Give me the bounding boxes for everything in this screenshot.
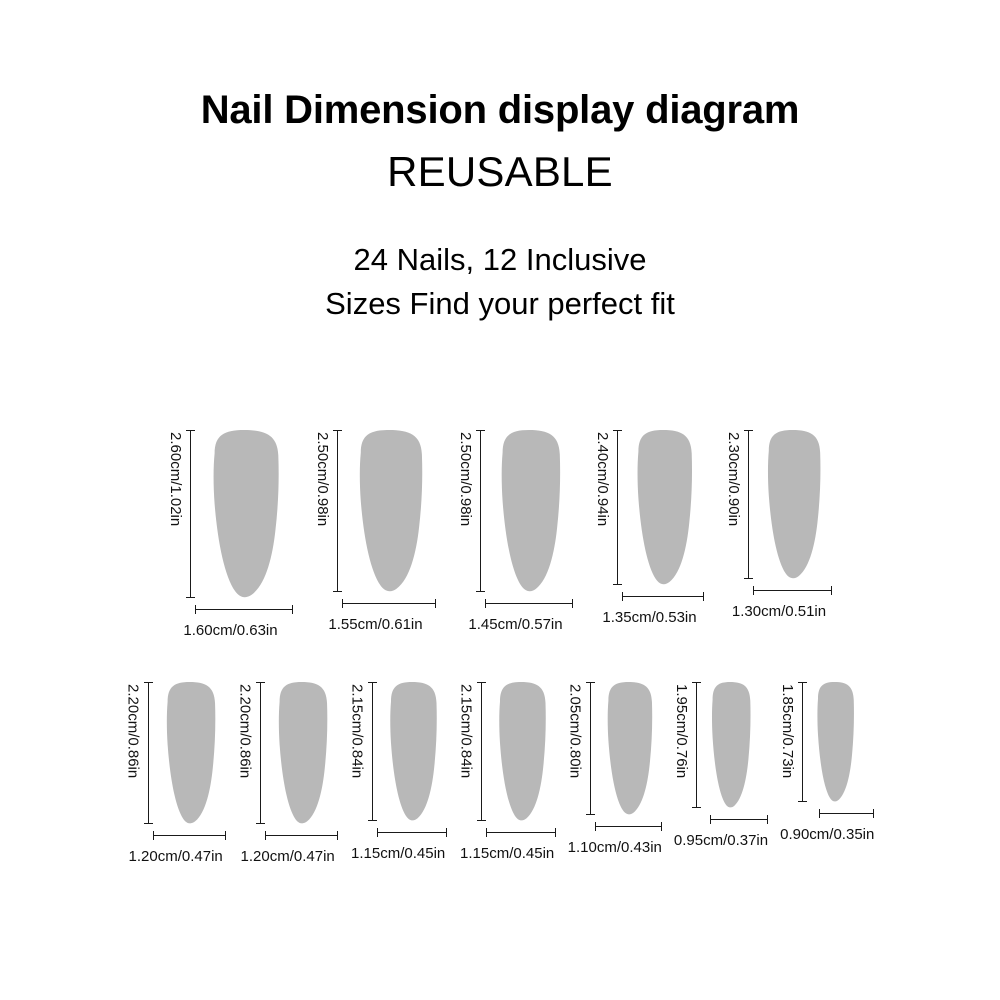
nail-shape-icon	[265, 682, 338, 824]
nail-width-label: 1.35cm/0.53in	[595, 610, 704, 625]
nail-width-label: 0.90cm/0.35in	[780, 827, 874, 842]
nail-width-label: 1.60cm/0.63in	[168, 623, 293, 638]
nail-shape-icon	[342, 430, 436, 592]
height-dimension-line	[144, 682, 153, 824]
height-dimension-line	[477, 682, 486, 821]
nail-shape-icon	[486, 682, 556, 821]
nail-height-label: 2.20cm/0.86in	[238, 682, 256, 824]
nail-size-item[interactable]: 2.20cm/0.86in1.20cm/0.47in	[238, 682, 338, 864]
height-dimension-line	[613, 430, 622, 585]
nail-shape-icon	[807, 682, 862, 802]
width-dimension-line	[342, 599, 436, 608]
height-dimension-line	[586, 682, 595, 815]
nail-size-item[interactable]: 2.50cm/0.98in1.45cm/0.57in	[458, 430, 573, 632]
height-dimension-line	[692, 682, 701, 808]
height-dimension-line	[744, 430, 753, 579]
nail-width-label: 1.45cm/0.57in	[458, 617, 573, 632]
nail-width-label: 1.15cm/0.45in	[350, 846, 447, 861]
nail-width-label: 1.20cm/0.47in	[238, 849, 338, 864]
nail-width-label: 0.95cm/0.37in	[674, 833, 768, 848]
width-dimension-line	[153, 831, 226, 840]
nail-shape-icon	[753, 430, 832, 579]
nail-shape-icon	[153, 682, 226, 824]
nail-height-label: 2.50cm/0.98in	[458, 430, 476, 592]
nail-size-item[interactable]: 2.40cm/0.94in1.35cm/0.53in	[595, 430, 704, 625]
width-dimension-line	[595, 822, 662, 831]
nail-shape-icon	[595, 682, 662, 815]
nail-row: 2.20cm/0.86in1.20cm/0.47in2.20cm/0.86in1…	[0, 682, 1000, 864]
height-dimension-line	[798, 682, 807, 802]
width-dimension-line	[377, 828, 447, 837]
nail-height-label: 2.15cm/0.84in	[350, 682, 368, 821]
width-dimension-line	[710, 815, 768, 824]
description-line-2: Sizes Find your perfect fit	[0, 282, 1000, 326]
nail-shape-icon	[701, 682, 759, 808]
width-dimension-line	[195, 605, 293, 614]
description-line-1: 24 Nails, 12 Inclusive	[0, 238, 1000, 282]
nail-height-label: 1.95cm/0.76in	[674, 682, 692, 808]
diagram-header: Nail Dimension display diagram REUSABLE …	[0, 0, 1000, 326]
nail-shape-icon	[485, 430, 573, 592]
nail-size-item[interactable]: 2.20cm/0.86in1.20cm/0.47in	[126, 682, 226, 864]
height-dimension-line	[256, 682, 265, 824]
nail-shape-icon	[377, 682, 447, 821]
width-dimension-line	[485, 599, 573, 608]
description-block: 24 Nails, 12 Inclusive Sizes Find your p…	[0, 238, 1000, 326]
nail-height-label: 2.60cm/1.02in	[168, 430, 186, 598]
height-dimension-line	[333, 430, 342, 592]
nail-size-item[interactable]: 2.05cm/0.80in1.10cm/0.43in	[568, 682, 662, 855]
nail-size-item[interactable]: 2.15cm/0.84in1.15cm/0.45in	[459, 682, 556, 861]
width-dimension-line	[265, 831, 338, 840]
nail-size-item[interactable]: 2.60cm/1.02in1.60cm/0.63in	[168, 430, 293, 638]
nail-row: 2.60cm/1.02in1.60cm/0.63in2.50cm/0.98in1…	[0, 430, 1000, 638]
nail-height-label: 2.50cm/0.98in	[315, 430, 333, 592]
width-dimension-line	[486, 828, 556, 837]
nail-width-label: 1.55cm/0.61in	[315, 617, 436, 632]
height-dimension-line	[368, 682, 377, 821]
nail-size-item[interactable]: 2.50cm/0.98in1.55cm/0.61in	[315, 430, 436, 632]
nail-shape-icon	[195, 430, 293, 598]
nail-height-label: 2.20cm/0.86in	[126, 682, 144, 824]
nail-size-item[interactable]: 2.15cm/0.84in1.15cm/0.45in	[350, 682, 447, 861]
nail-width-label: 1.30cm/0.51in	[726, 604, 832, 619]
nail-shape-icon	[622, 430, 704, 585]
height-dimension-line	[186, 430, 195, 598]
nail-height-label: 2.05cm/0.80in	[568, 682, 586, 815]
width-dimension-line	[819, 809, 874, 818]
page-title: Nail Dimension display diagram	[0, 88, 1000, 133]
nail-size-item[interactable]: 1.85cm/0.73in0.90cm/0.35in	[780, 682, 874, 842]
nail-height-label: 2.40cm/0.94in	[595, 430, 613, 585]
nail-height-label: 1.85cm/0.73in	[780, 682, 798, 802]
nail-size-chart: 2.60cm/1.02in1.60cm/0.63in2.50cm/0.98in1…	[0, 430, 1000, 864]
height-dimension-line	[476, 430, 485, 592]
nail-height-label: 2.30cm/0.90in	[726, 430, 744, 579]
subtitle-reusable: REUSABLE	[0, 147, 1000, 197]
nail-width-label: 1.15cm/0.45in	[459, 846, 556, 861]
nail-size-item[interactable]: 1.95cm/0.76in0.95cm/0.37in	[674, 682, 768, 848]
nail-height-label: 2.15cm/0.84in	[459, 682, 477, 821]
nail-size-item[interactable]: 2.30cm/0.90in1.30cm/0.51in	[726, 430, 832, 619]
nail-width-label: 1.10cm/0.43in	[568, 840, 662, 855]
width-dimension-line	[753, 586, 832, 595]
nail-width-label: 1.20cm/0.47in	[126, 849, 226, 864]
width-dimension-line	[622, 592, 704, 601]
